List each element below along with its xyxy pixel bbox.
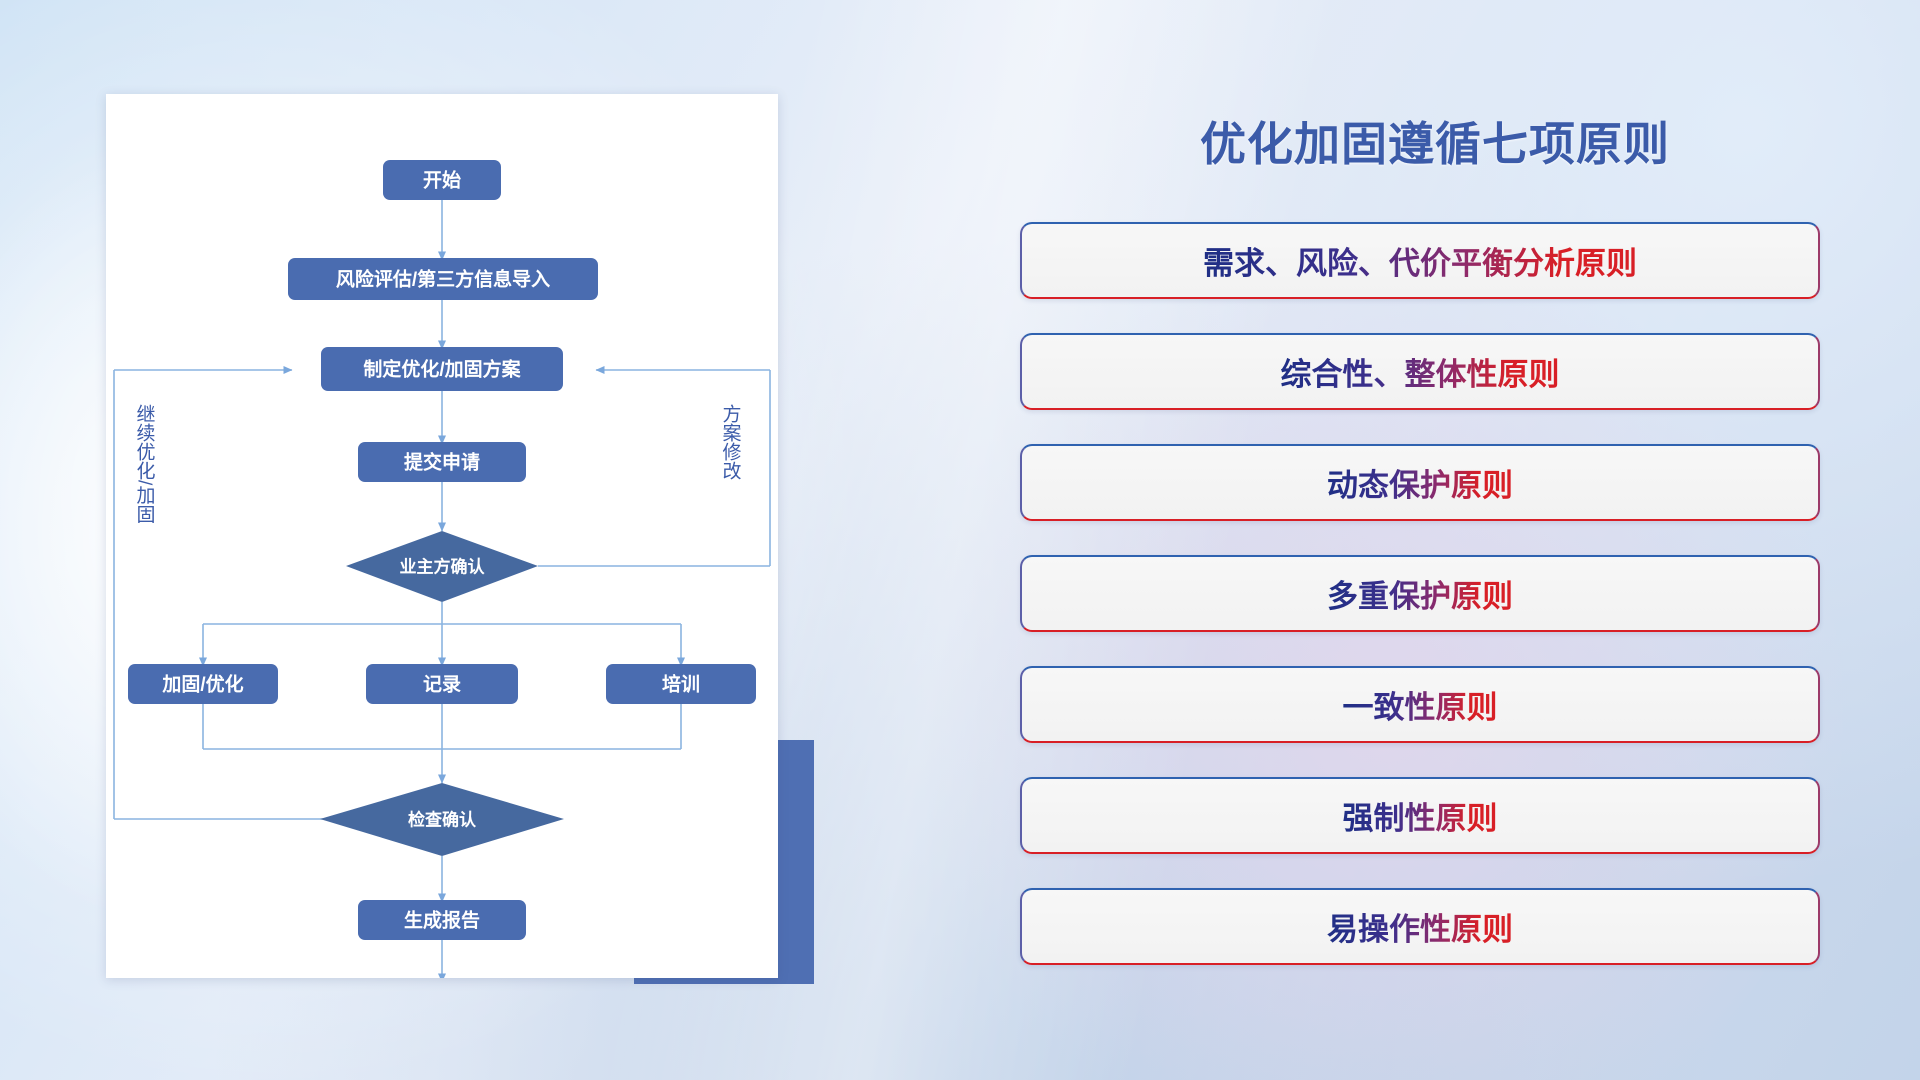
principle-label: 多重保护原则 [1327,571,1513,616]
principle-label: 动态保护原则 [1327,460,1513,505]
flow-node-risk-assessment[interactable]: 风险评估/第三方信息导入 [288,258,598,300]
flow-node-owner-confirm-label: 业主方确认 [400,557,486,577]
principle-row[interactable]: 一致性原则 [1020,666,1820,743]
flow-edge-label-right-loop: 方案修改 [720,404,742,480]
flow-node-submit[interactable]: 提交申请 [358,442,526,482]
principles-list: 需求、风险、代价平衡分析原则 综合性、整体性原则 动态保护原则 多重保护原则 一… [1020,222,1820,999]
flow-node-risk-assessment-label: 风险评估/第三方信息导入 [336,268,550,291]
principle-row[interactable]: 多重保护原则 [1020,555,1820,632]
flow-node-start-label: 开始 [423,169,461,192]
slide-canvas: 开始 风险评估/第三方信息导入 制定优化/加固方案 提交申请 业主方确认 加固/ [0,0,1920,1080]
flow-edge-label-left-loop: 继续优化/加固 [134,404,156,524]
panel-title: 优化加固遵循七项原则 [1020,108,1850,174]
flow-node-start[interactable]: 开始 [383,160,501,200]
flow-node-reinforce[interactable]: 加固/优化 [128,664,278,704]
flow-node-training[interactable]: 培训 [606,664,756,704]
principle-label: 强制性原则 [1343,793,1498,838]
principle-row[interactable]: 需求、风险、代价平衡分析原则 [1020,222,1820,299]
principle-row[interactable]: 易操作性原则 [1020,888,1820,965]
flow-node-training-label: 培训 [662,673,700,696]
flow-node-report-label: 生成报告 [404,909,480,932]
flow-node-check-confirm[interactable]: 检查确认 [320,783,564,856]
flow-node-owner-confirm[interactable]: 业主方确认 [346,531,538,602]
flow-node-record-label: 记录 [423,674,461,696]
flow-node-plan-label: 制定优化/加固方案 [363,358,521,381]
principle-row[interactable]: 动态保护原则 [1020,444,1820,521]
flow-node-submit-label: 提交申请 [404,451,480,474]
principle-row[interactable]: 综合性、整体性原则 [1020,333,1820,410]
flowchart-card: 开始 风险评估/第三方信息导入 制定优化/加固方案 提交申请 业主方确认 加固/ [106,94,778,978]
principle-label: 一致性原则 [1343,682,1498,727]
flow-node-plan[interactable]: 制定优化/加固方案 [321,347,563,391]
principles-panel: 优化加固遵循七项原则 需求、风险、代价平衡分析原则 综合性、整体性原则 动态保护… [1020,94,1850,994]
flow-node-record[interactable]: 记录 [366,664,518,704]
flow-node-report[interactable]: 生成报告 [358,900,526,940]
flow-node-check-confirm-label: 检查确认 [408,810,477,830]
flow-node-reinforce-label: 加固/优化 [161,673,243,696]
flowchart-svg: 开始 风险评估/第三方信息导入 制定优化/加固方案 提交申请 业主方确认 加固/ [106,94,778,978]
principle-label: 需求、风险、代价平衡分析原则 [1203,238,1637,283]
principle-label: 综合性、整体性原则 [1281,349,1560,394]
principle-row[interactable]: 强制性原则 [1020,777,1820,854]
principle-label: 易操作性原则 [1327,904,1513,949]
